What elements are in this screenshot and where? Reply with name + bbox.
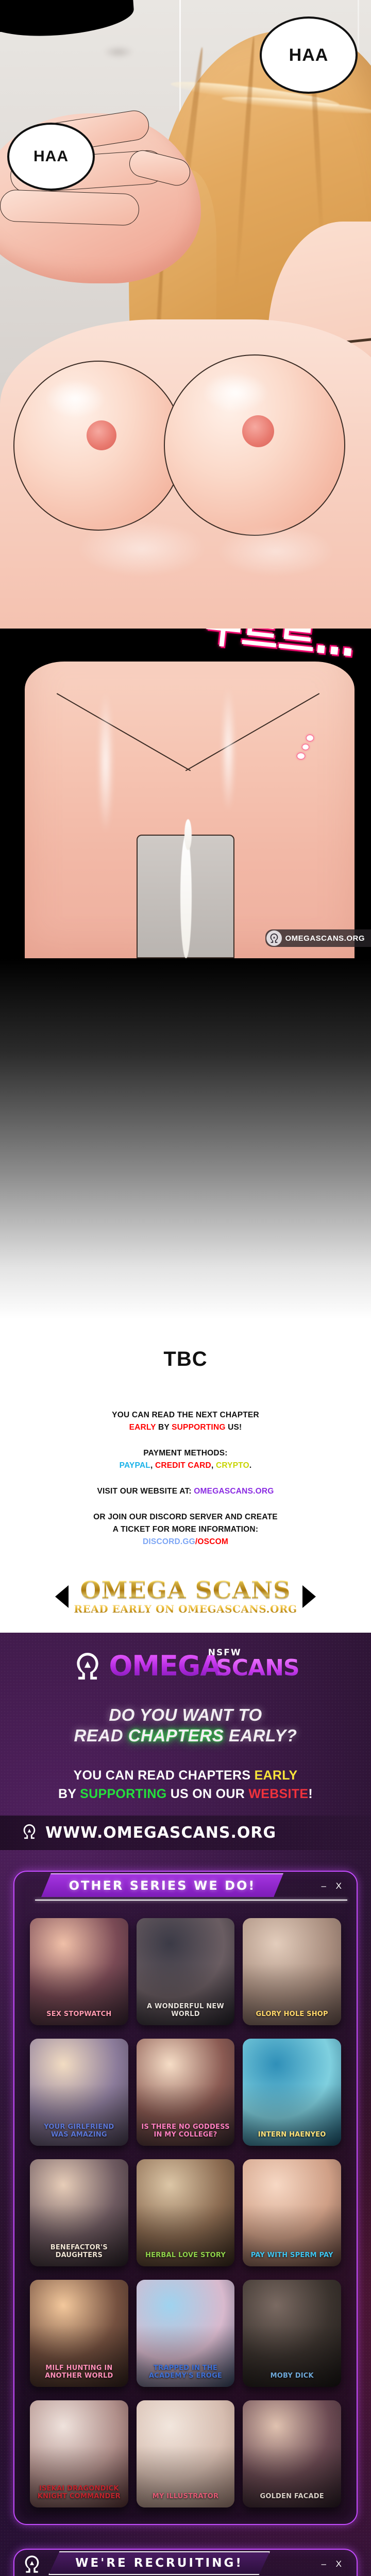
banner-url-bar[interactable]: WWW.OMEGASCANS.ORG bbox=[0, 1816, 371, 1850]
brand-nsfw-tag: NSFW bbox=[208, 1648, 242, 1658]
series-card[interactable]: ISEKAI DRAGONDICK KNIGHT COMMANDER bbox=[30, 2400, 128, 2507]
series-title: SEX STOPWATCH bbox=[34, 2011, 124, 2019]
early-word: EARLY bbox=[129, 1423, 156, 1432]
series-card[interactable]: GLORY HOLE SHOP bbox=[243, 1918, 341, 2025]
period: . bbox=[249, 1461, 252, 1470]
series-card[interactable]: YOUR GIRLFRIEND WAS AMAZING bbox=[30, 2039, 128, 2146]
banner-headline: DO YOU WANT TO READ CHAPTERS EARLY? bbox=[0, 1705, 371, 1758]
window-header: OTHER SERIES WE DO! – X bbox=[14, 1872, 357, 1901]
separator: , bbox=[211, 1461, 216, 1470]
omega-scans-banner: OMEGA SCANS NSFW DO YOU WANT TO READ CHA… bbox=[0, 1633, 371, 2576]
sound-effect-dots bbox=[307, 732, 313, 762]
omega-logo-icon bbox=[21, 1823, 38, 1843]
recruit-window-header: WE'RE RECRUITING! – X bbox=[14, 2550, 357, 2576]
series-title: IS THERE NO GODDESS IN MY COLLEGE? bbox=[141, 2124, 231, 2139]
fade-transition bbox=[0, 958, 371, 1319]
series-title: YOUR GIRLFRIEND WAS AMAZING bbox=[34, 2124, 124, 2139]
headline-chapters: CHAPTERS bbox=[128, 1726, 224, 1745]
other-series-window: OTHER SERIES WE DO! – X SEX STOPWATCHA W… bbox=[13, 1871, 358, 2525]
series-title: MOBY DICK bbox=[247, 2372, 337, 2380]
discord-info-line1: OR JOIN OUR DISCORD SERVER AND CREATE bbox=[0, 1511, 371, 1523]
sound-effect-text: 구르르… bbox=[203, 629, 357, 660]
nipple bbox=[242, 415, 274, 447]
highlight bbox=[98, 690, 113, 835]
visit-label: VISIT OUR WEBSITE AT: bbox=[97, 1487, 194, 1496]
omega-scans-wordmark: OMEGA SCANS READ EARLY ON OMEGASCANS.ORG bbox=[0, 1578, 371, 1615]
brand-omega: OMEGA bbox=[109, 1653, 221, 1679]
discord-url-line: DISCORD.GG/OSCOM bbox=[0, 1536, 371, 1548]
finger bbox=[0, 189, 140, 226]
omega-logo-icon bbox=[72, 1650, 104, 1682]
headline-line2: READ CHAPTERS EARLY? bbox=[0, 1725, 371, 1746]
gold-title: OMEGA SCANS bbox=[74, 1578, 297, 1602]
fluid-drip bbox=[180, 835, 192, 958]
discord-domain[interactable]: DISCORD.GG bbox=[143, 1537, 195, 1546]
recruit-title-tab: WE'RE RECRUITING! bbox=[48, 2551, 270, 2575]
series-card[interactable]: MY ILLUSTRATOR bbox=[137, 2400, 235, 2507]
series-title: MY ILLUSTRATOR bbox=[141, 2493, 231, 2501]
omega-logo-icon bbox=[22, 2554, 42, 2574]
series-title: A WONDERFUL NEW WORLD bbox=[141, 2003, 231, 2018]
speech-bubble: HAA bbox=[7, 123, 95, 191]
series-title: INTERN HAENYEO bbox=[247, 2131, 337, 2139]
recruit-title: WE'RE RECRUITING! bbox=[75, 2556, 243, 2570]
supporting-word: SUPPORTING bbox=[172, 1423, 225, 1432]
series-card[interactable]: TRAPPED IN THE ACADEMY'S EROGE bbox=[137, 2280, 235, 2387]
series-title: BENEFACTOR'S DAUGHTERS bbox=[34, 2244, 124, 2259]
series-title: HERBAL LOVE STORY bbox=[141, 2252, 231, 2260]
manga-panel-upper: HAA HAA bbox=[0, 0, 371, 629]
highlight bbox=[202, 372, 269, 413]
discord-info-line2: A TICKET FOR MORE INFORMATION: bbox=[0, 1523, 371, 1536]
payment-methods-list: PAYPAL, CREDIT CARD, CRYPTO. bbox=[0, 1460, 371, 1472]
window-title-tab: OTHER SERIES WE DO! bbox=[41, 1873, 283, 1897]
series-title: MILF HUNTING IN ANOTHER WORLD bbox=[34, 2365, 124, 2380]
next-chapter-line2: EARLY BY SUPPORTING US! bbox=[0, 1421, 371, 1434]
separator: , bbox=[150, 1461, 155, 1470]
series-title: ISEKAI DRAGONDICK KNIGHT COMMANDER bbox=[34, 2485, 124, 2500]
window-header-divider bbox=[35, 1900, 347, 1901]
window-title: OTHER SERIES WE DO! bbox=[69, 1878, 256, 1893]
nipple bbox=[87, 420, 116, 450]
speech-bubble-text: HAA bbox=[289, 45, 329, 65]
highlight bbox=[222, 685, 235, 814]
subline-website: WEBSITE bbox=[248, 1787, 308, 1801]
subline-text: YOU CAN READ CHAPTERS bbox=[73, 1768, 254, 1783]
series-card[interactable]: HERBAL LOVE STORY bbox=[137, 2159, 235, 2266]
visit-website-line: VISIT OUR WEBSITE AT: OMEGASCANS.ORG bbox=[0, 1485, 371, 1498]
subline-mid: US ON OUR bbox=[166, 1787, 248, 1801]
manga-panel-lower: 구르르… OMEGASCANS.ORG bbox=[0, 629, 371, 958]
subline-2: BY SUPPORTING US ON OUR WEBSITE! bbox=[0, 1785, 371, 1803]
banner-website-url[interactable]: WWW.OMEGASCANS.ORG bbox=[45, 1824, 276, 1842]
watermark-label: OMEGASCANS.ORG bbox=[285, 934, 365, 943]
payment-credit-card: CREDIT CARD bbox=[155, 1461, 211, 1470]
window-controls[interactable]: – X bbox=[321, 1881, 345, 1891]
fluid-drip bbox=[184, 819, 192, 850]
brand-scans: SCANS bbox=[216, 1657, 299, 1680]
series-card[interactable]: A WONDERFUL NEW WORLD bbox=[137, 1918, 235, 2025]
series-card[interactable]: GOLDEN FACADE bbox=[243, 2400, 341, 2507]
headline-read: READ bbox=[74, 1726, 128, 1745]
omega-logo-icon bbox=[266, 930, 282, 946]
us-word: US! bbox=[226, 1423, 242, 1432]
payment-paypal: PAYPAL bbox=[120, 1461, 150, 1470]
payment-methods-label: PAYMENT METHODS: bbox=[0, 1447, 371, 1460]
gold-subtitle: READ EARLY ON OMEGASCANS.ORG bbox=[74, 1603, 297, 1615]
highlight bbox=[44, 379, 106, 418]
series-title: GOLDEN FACADE bbox=[247, 2493, 337, 2501]
payment-crypto: CRYPTO bbox=[216, 1461, 249, 1470]
recruiting-window: WE'RE RECRUITING! – X KOREAN TRANSLATOR … bbox=[13, 2549, 358, 2576]
watermark-badge: OMEGASCANS.ORG bbox=[265, 929, 371, 947]
series-title: PAY WITH SPERM PAY bbox=[247, 2252, 337, 2260]
subline-early: EARLY bbox=[255, 1768, 298, 1783]
subline-end: ! bbox=[308, 1787, 313, 1801]
by-word: BY bbox=[156, 1423, 172, 1432]
series-card[interactable]: MOBY DICK bbox=[243, 2280, 341, 2387]
series-title: GLORY HOLE SHOP bbox=[247, 2011, 337, 2019]
triangle-right-icon bbox=[302, 1585, 316, 1608]
banner-subline: YOU CAN READ CHAPTERS EARLY BY SUPPORTIN… bbox=[0, 1758, 371, 1816]
series-grid: SEX STOPWATCHA WONDERFUL NEW WORLDGLORY … bbox=[14, 1901, 357, 2511]
series-card[interactable]: IS THERE NO GODDESS IN MY COLLEGE? bbox=[137, 2039, 235, 2146]
speech-bubble: HAA bbox=[260, 16, 358, 94]
webtoon-page: HAA HAA 구르르… OMEGASCANS.ORG bbox=[0, 0, 371, 2576]
banner-brand-row: OMEGA SCANS NSFW bbox=[0, 1647, 371, 1705]
discord-invite-code[interactable]: /OSCOM bbox=[195, 1537, 228, 1546]
series-card[interactable]: INTERN HAENYEO bbox=[243, 2039, 341, 2146]
triangle-left-icon bbox=[55, 1585, 69, 1608]
subline-1: YOU CAN READ CHAPTERS EARLY bbox=[0, 1766, 371, 1785]
headline-line1: DO YOU WANT TO bbox=[0, 1705, 371, 1725]
tbc-label: TBC bbox=[0, 1348, 371, 1371]
highlight bbox=[77, 520, 206, 577]
next-chapter-line1: YOU CAN READ THE NEXT CHAPTER bbox=[0, 1409, 371, 1421]
promo-section: TBC YOU CAN READ THE NEXT CHAPTER EARLY … bbox=[0, 1319, 371, 1633]
series-title: TRAPPED IN THE ACADEMY'S EROGE bbox=[141, 2365, 231, 2380]
wall-smudge bbox=[103, 45, 134, 59]
series-card[interactable]: SEX STOPWATCH bbox=[30, 1918, 128, 2025]
subline-supporting: SUPPORTING bbox=[80, 1787, 166, 1801]
recruit-window-controls[interactable]: – X bbox=[321, 2559, 345, 2569]
series-card[interactable]: MILF HUNTING IN ANOTHER WORLD bbox=[30, 2280, 128, 2387]
speech-bubble-text: HAA bbox=[33, 148, 69, 165]
series-card[interactable]: PAY WITH SPERM PAY bbox=[243, 2159, 341, 2266]
website-url[interactable]: OMEGASCANS.ORG bbox=[194, 1487, 274, 1496]
subline-by: BY bbox=[58, 1787, 80, 1801]
highlight bbox=[216, 526, 335, 577]
series-card[interactable]: BENEFACTOR'S DAUGHTERS bbox=[30, 2159, 128, 2266]
headline-early: EARLY? bbox=[224, 1726, 297, 1745]
next-chapter-text: YOU CAN READ THE NEXT CHAPTER bbox=[112, 1411, 259, 1419]
